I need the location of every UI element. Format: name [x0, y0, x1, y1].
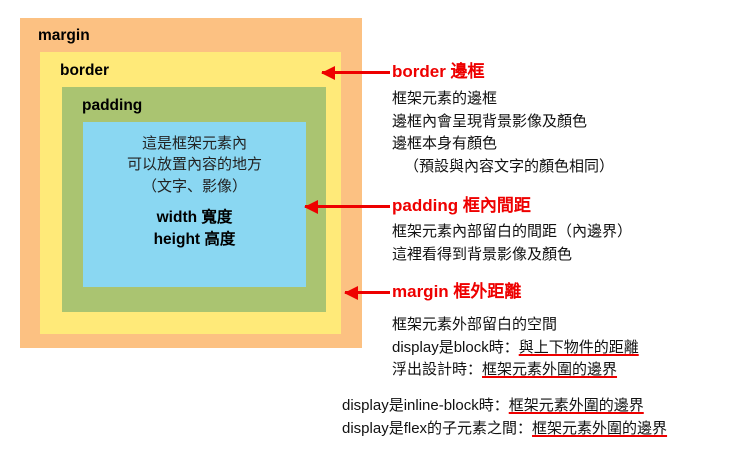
annotation-border-line-1: 框架元素的邊框	[392, 88, 614, 111]
annotation-padding: padding 框內間距 框架元素內部留白的間距（內邊界） 這裡看得到背景影像及…	[392, 196, 632, 266]
annotation-margin-line-1: 框架元素外部留白的空間	[392, 314, 639, 337]
annotation-padding-body: 框架元素內部留白的間距（內邊界） 這裡看得到背景影像及顏色	[392, 221, 632, 266]
annotation-margin-line-3: 浮出設計時：框架元素外圍的邊界	[392, 359, 639, 382]
annotation-margin-line-3-prefix: 浮出設計時：	[392, 361, 482, 378]
annotation-margin-title: margin 框外距離	[392, 282, 639, 302]
annotation-margin: margin 框外距離 框架元素外部留白的空間 display是block時：與…	[392, 282, 639, 382]
padding-box-label: padding	[82, 98, 142, 114]
content-line-1: 這是框架元素內	[142, 133, 247, 154]
arrow-to-border-icon	[322, 71, 390, 74]
annotation-border-line-4: （預設與內容文字的顏色相同）	[392, 156, 614, 179]
box-model-diagram-stage: margin border padding 這是框架元素內 可以放置內容的地方 …	[0, 0, 750, 461]
annotation-border-body: 框架元素的邊框 邊框內會呈現背景影像及顏色 邊框本身有顏色 （預設與內容文字的顏…	[392, 88, 614, 178]
content-line-3: （文字、影像）	[142, 176, 247, 197]
annotation-border-line-3: 邊框本身有顏色	[392, 133, 614, 156]
annotation-padding-line-2: 這裡看得到背景影像及顏色	[392, 244, 632, 267]
content-box: 這是框架元素內 可以放置內容的地方 （文字、影像） width 寬度 heigh…	[83, 122, 306, 287]
annotation-extra: display是inline-block時：框架元素外圍的邊界 display是…	[342, 394, 667, 441]
arrow-to-margin-icon	[345, 291, 390, 294]
annotation-extra-line-2-emphasis: 框架元素外圍的邊界	[532, 420, 667, 437]
annotation-extra-line-1-prefix: display是inline-block時：	[342, 397, 509, 414]
annotation-padding-line-1: 框架元素內部留白的間距（內邊界）	[392, 221, 632, 244]
padding-box: padding 這是框架元素內 可以放置內容的地方 （文字、影像） width …	[62, 87, 326, 312]
annotation-margin-line-3-emphasis: 框架元素外圍的邊界	[482, 361, 617, 378]
annotation-extra-line-2-prefix: display是flex的子元素之間：	[342, 420, 532, 437]
annotation-margin-line-2: display是block時：與上下物件的距離	[392, 337, 639, 360]
annotation-extra-line-2: display是flex的子元素之間：框架元素外圍的邊界	[342, 417, 667, 440]
annotation-margin-line-2-prefix: display是block時：	[392, 339, 519, 356]
annotation-border-title: border 邊框	[392, 62, 614, 82]
annotation-border: border 邊框 框架元素的邊框 邊框內會呈現背景影像及顏色 邊框本身有顏色 …	[392, 62, 614, 178]
annotation-extra-line-1-emphasis: 框架元素外圍的邊界	[509, 397, 644, 414]
annotation-border-line-2: 邊框內會呈現背景影像及顏色	[392, 111, 614, 134]
border-box-label: border	[60, 63, 109, 79]
content-width-label: width 寬度	[157, 207, 233, 229]
margin-box-label: margin	[38, 28, 90, 44]
annotation-extra-line-1: display是inline-block時：框架元素外圍的邊界	[342, 394, 667, 417]
arrow-to-padding-icon	[305, 205, 390, 208]
annotation-margin-line-2-emphasis: 與上下物件的距離	[519, 339, 639, 356]
margin-box: margin border padding 這是框架元素內 可以放置內容的地方 …	[20, 18, 362, 348]
content-line-2: 可以放置內容的地方	[127, 154, 262, 175]
annotation-padding-title: padding 框內間距	[392, 196, 632, 216]
annotation-margin-body: 框架元素外部留白的空間 display是block時：與上下物件的距離 浮出設計…	[392, 314, 639, 382]
content-height-label: height 高度	[154, 229, 236, 251]
border-box: border padding 這是框架元素內 可以放置內容的地方 （文字、影像）…	[40, 52, 341, 334]
